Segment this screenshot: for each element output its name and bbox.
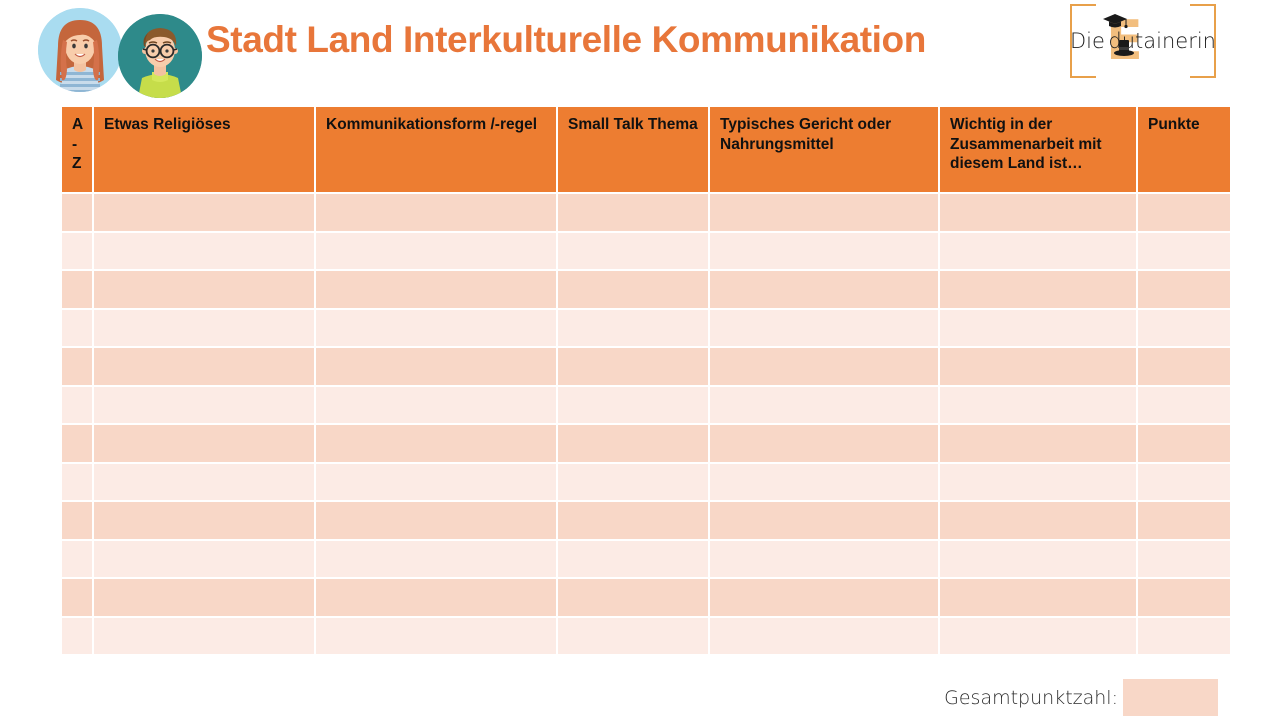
table-header-smalltalk: Small Talk Thema — [558, 107, 708, 192]
cell-punkte[interactable] — [1138, 502, 1230, 539]
cell-wichtig[interactable] — [940, 310, 1136, 347]
table-header-kommunikation: Kommunikationsform /-regel — [316, 107, 556, 192]
cell-az[interactable] — [62, 579, 92, 616]
cell-smalltalk[interactable] — [558, 464, 708, 501]
cell-kommunikation[interactable] — [316, 387, 556, 424]
cell-kommunikation[interactable] — [316, 271, 556, 308]
top-hat-icon — [1113, 39, 1135, 59]
brand-logo: Die E dutainerin — [1070, 4, 1216, 78]
cell-kommunikation[interactable] — [316, 579, 556, 616]
score-table: A - ZEtwas ReligiösesKommunikationsform … — [60, 105, 1232, 656]
table-header-az: A - Z — [62, 107, 92, 192]
cell-az[interactable] — [62, 425, 92, 462]
table-row — [62, 425, 1230, 462]
table-row — [62, 579, 1230, 616]
cell-kommunikation[interactable] — [316, 348, 556, 385]
cell-gericht[interactable] — [710, 464, 938, 501]
cell-smalltalk[interactable] — [558, 425, 708, 462]
cell-az[interactable] — [62, 194, 92, 231]
cell-religion[interactable] — [94, 310, 314, 347]
avatar-woman-illustration — [38, 8, 122, 92]
table-row — [62, 618, 1230, 655]
cell-gericht[interactable] — [710, 579, 938, 616]
cell-wichtig[interactable] — [940, 541, 1136, 578]
table-row — [62, 348, 1230, 385]
cell-religion[interactable] — [94, 464, 314, 501]
cell-kommunikation[interactable] — [316, 425, 556, 462]
cell-smalltalk[interactable] — [558, 387, 708, 424]
cell-gericht[interactable] — [710, 502, 938, 539]
page-header: Stadt Land Interkulturelle Kommunikation… — [0, 0, 1280, 100]
cell-az[interactable] — [62, 502, 92, 539]
cell-smalltalk[interactable] — [558, 541, 708, 578]
cell-religion[interactable] — [94, 579, 314, 616]
cell-az[interactable] — [62, 310, 92, 347]
cell-punkte[interactable] — [1138, 579, 1230, 616]
cell-wichtig[interactable] — [940, 348, 1136, 385]
cell-gericht[interactable] — [710, 425, 938, 462]
cell-wichtig[interactable] — [940, 579, 1136, 616]
cell-gericht[interactable] — [710, 618, 938, 655]
cell-religion[interactable] — [94, 502, 314, 539]
avatar-man — [118, 14, 202, 98]
table-row — [62, 310, 1230, 347]
table-row — [62, 233, 1230, 270]
table-head: A - ZEtwas ReligiösesKommunikationsform … — [62, 107, 1230, 192]
table-row — [62, 541, 1230, 578]
avatar-group — [38, 6, 208, 96]
cell-punkte[interactable] — [1138, 194, 1230, 231]
table-header-wichtig: Wichtig in der Zusammenarbeit mit diesem… — [940, 107, 1136, 192]
avatar-woman — [38, 8, 122, 92]
avatar-man-illustration — [118, 14, 202, 98]
cell-kommunikation[interactable] — [316, 233, 556, 270]
cell-smalltalk[interactable] — [558, 271, 708, 308]
cell-az[interactable] — [62, 387, 92, 424]
page-title: Stadt Land Interkulturelle Kommunikation — [206, 18, 1066, 62]
table-row — [62, 271, 1230, 308]
cell-religion[interactable] — [94, 541, 314, 578]
cell-punkte[interactable] — [1138, 425, 1230, 462]
cell-religion[interactable] — [94, 271, 314, 308]
cell-punkte[interactable] — [1138, 310, 1230, 347]
cell-gericht[interactable] — [710, 194, 938, 231]
cell-az[interactable] — [62, 618, 92, 655]
cell-wichtig[interactable] — [940, 271, 1136, 308]
cell-az[interactable] — [62, 233, 92, 270]
table-row — [62, 464, 1230, 501]
cell-smalltalk[interactable] — [558, 618, 708, 655]
cell-gericht[interactable] — [710, 387, 938, 424]
cell-gericht[interactable] — [710, 310, 938, 347]
cell-punkte[interactable] — [1138, 618, 1230, 655]
cell-smalltalk[interactable] — [558, 579, 708, 616]
table-row — [62, 387, 1230, 424]
table-row — [62, 194, 1230, 231]
cell-wichtig[interactable] — [940, 233, 1136, 270]
cell-wichtig[interactable] — [940, 387, 1136, 424]
cell-smalltalk[interactable] — [558, 194, 708, 231]
total-score-input[interactable] — [1123, 679, 1218, 716]
logo-wordmark: Die E dutainerin — [1070, 4, 1216, 78]
table-header-punkte: Punkte — [1138, 107, 1230, 192]
cell-religion[interactable] — [94, 425, 314, 462]
cell-punkte[interactable] — [1138, 271, 1230, 308]
cell-az[interactable] — [62, 541, 92, 578]
cell-punkte[interactable] — [1138, 464, 1230, 501]
table-row — [62, 502, 1230, 539]
cell-wichtig[interactable] — [940, 194, 1136, 231]
cell-gericht[interactable] — [710, 271, 938, 308]
cell-punkte[interactable] — [1138, 541, 1230, 578]
cell-religion[interactable] — [94, 194, 314, 231]
cell-az[interactable] — [62, 271, 92, 308]
cell-punkte[interactable] — [1138, 233, 1230, 270]
cell-gericht[interactable] — [710, 348, 938, 385]
logo-letter-e-group: E — [1106, 17, 1107, 65]
cell-kommunikation[interactable] — [316, 502, 556, 539]
cell-wichtig[interactable] — [940, 618, 1136, 655]
cell-kommunikation[interactable] — [316, 464, 556, 501]
cell-smalltalk[interactable] — [558, 348, 708, 385]
cell-religion[interactable] — [94, 348, 314, 385]
graduation-cap-icon — [1102, 13, 1128, 29]
cell-punkte[interactable] — [1138, 387, 1230, 424]
cell-smalltalk[interactable] — [558, 502, 708, 539]
cell-az[interactable] — [62, 348, 92, 385]
cell-punkte[interactable] — [1138, 348, 1230, 385]
total-score-label: Gesamtpunktzahl: — [944, 679, 1118, 717]
cell-az[interactable] — [62, 464, 92, 501]
table-header-religion: Etwas Religiöses — [94, 107, 314, 192]
cell-kommunikation[interactable] — [316, 194, 556, 231]
cell-gericht[interactable] — [710, 233, 938, 270]
cell-religion[interactable] — [94, 387, 314, 424]
cell-smalltalk[interactable] — [558, 310, 708, 347]
cell-kommunikation[interactable] — [316, 310, 556, 347]
total-score-row: Gesamtpunktzahl: — [62, 679, 1218, 717]
cell-smalltalk[interactable] — [558, 233, 708, 270]
table-header-gericht: Typisches Gericht oder Nahrungsmittel — [710, 107, 938, 192]
cell-kommunikation[interactable] — [316, 541, 556, 578]
cell-wichtig[interactable] — [940, 502, 1136, 539]
table-header-row: A - ZEtwas ReligiösesKommunikationsform … — [62, 107, 1230, 192]
cell-religion[interactable] — [94, 618, 314, 655]
cell-wichtig[interactable] — [940, 425, 1136, 462]
cell-religion[interactable] — [94, 233, 314, 270]
score-table-container: A - ZEtwas ReligiösesKommunikationsform … — [62, 107, 1218, 654]
cell-wichtig[interactable] — [940, 464, 1136, 501]
logo-text-die: Die — [1070, 29, 1105, 53]
table-body — [62, 194, 1230, 654]
cell-kommunikation[interactable] — [316, 618, 556, 655]
cell-gericht[interactable] — [710, 541, 938, 578]
